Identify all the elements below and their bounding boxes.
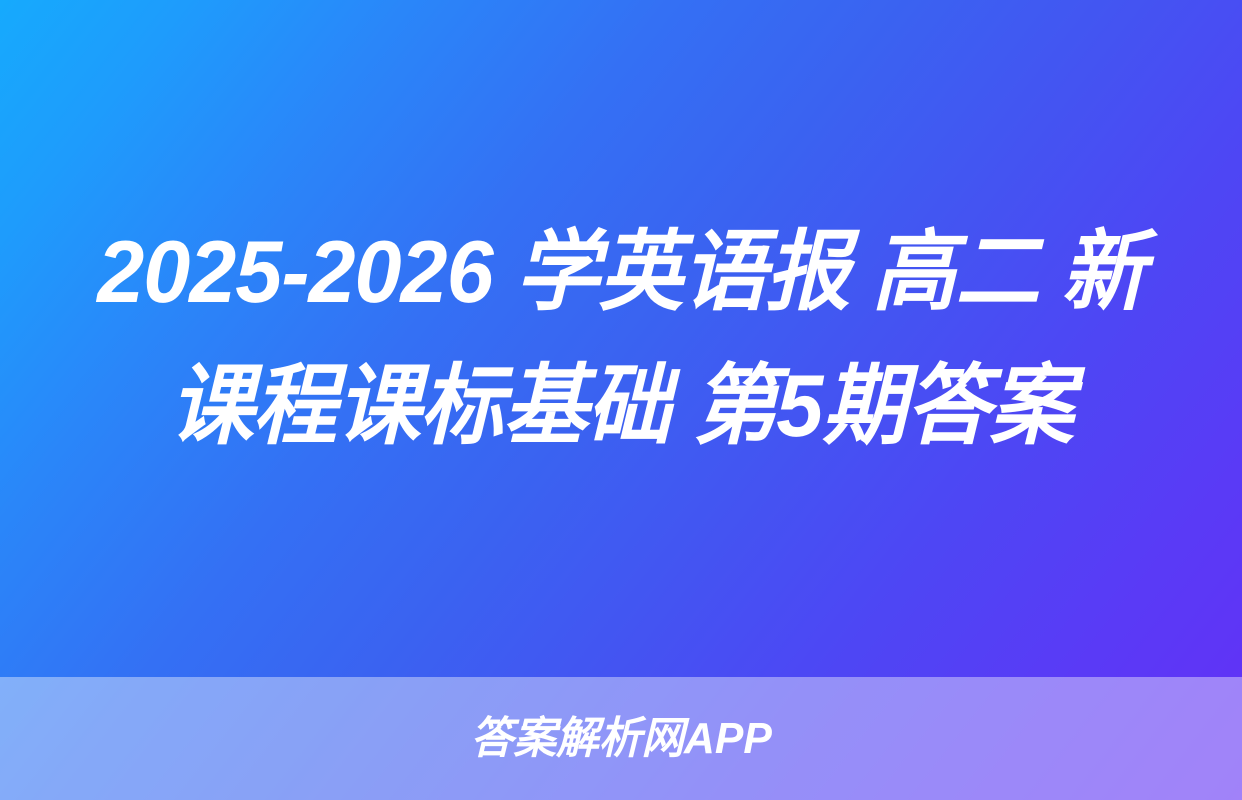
- page-title: 2025-2026 学英语报 高二 新课程课标基础 第5期答案: [61, 205, 1180, 473]
- footer-watermark-band: 答案解析网APP: [0, 677, 1242, 800]
- app-brand-label: 答案解析网APP: [470, 717, 771, 761]
- title-block: 2025-2026 学英语报 高二 新课程课标基础 第5期答案: [0, 0, 1242, 677]
- answer-card: 2025-2026 学英语报 高二 新课程课标基础 第5期答案 答案解析网APP: [0, 0, 1242, 800]
